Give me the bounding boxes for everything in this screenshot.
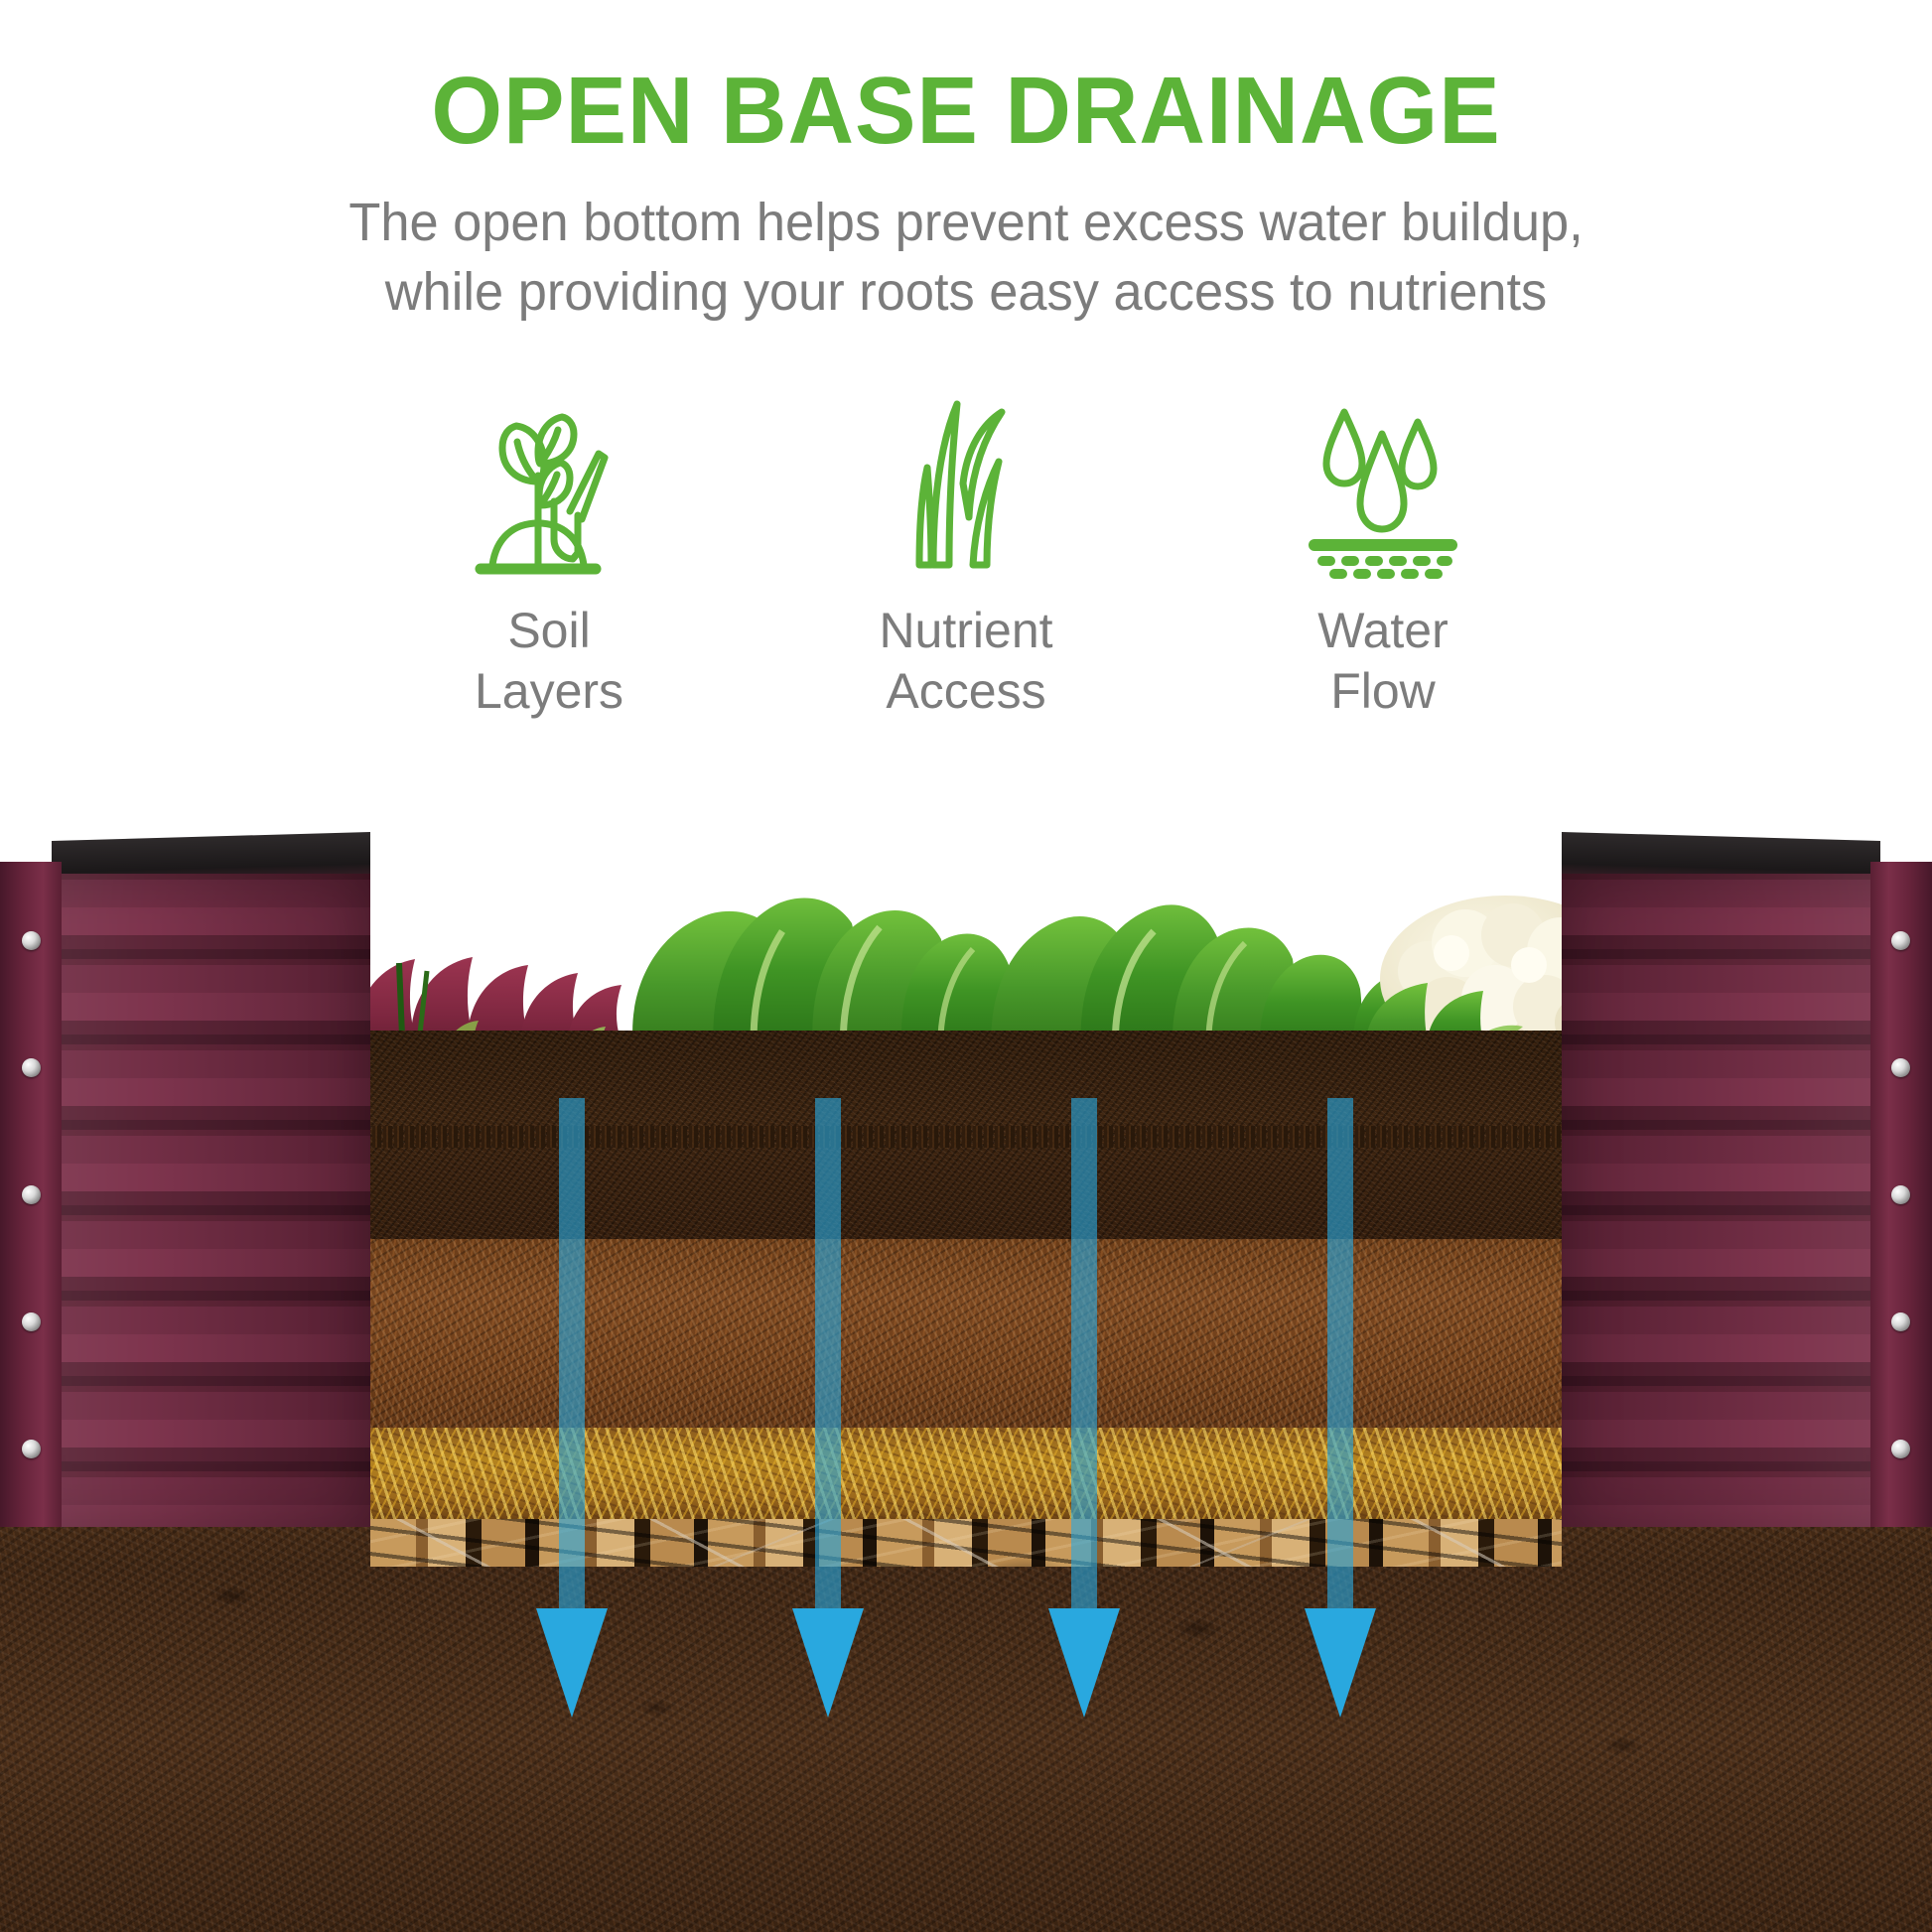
feature-label-line-1: Water (1174, 601, 1591, 661)
feature-label-soil-layers: Soil Layers (341, 601, 758, 722)
plant-shovel-icon (341, 390, 758, 579)
panel-screw (1891, 1440, 1910, 1458)
feature-water-flow: Water Flow (1174, 390, 1591, 722)
planter-panel-left (0, 832, 370, 1527)
soil-layer-mulch (370, 1239, 1562, 1428)
grass-blades-icon (758, 390, 1174, 579)
feature-label-line-1: Nutrient (758, 601, 1174, 661)
product-image (0, 832, 1932, 1932)
soil-layer-logs (370, 1519, 1562, 1567)
panel-screw (22, 1058, 41, 1077)
feature-label-nutrient-access: Nutrient Access (758, 601, 1174, 722)
panel-screw (1891, 1058, 1910, 1077)
panel-screw (22, 1185, 41, 1204)
feature-nutrient-access: Nutrient Access (758, 390, 1174, 722)
panel-screw (1891, 931, 1910, 950)
feature-label-line-2: Layers (341, 661, 758, 722)
water-droplets-permeable-soil-icon (1174, 390, 1591, 579)
feature-label-line-1: Soil (341, 601, 758, 661)
panel-screw (1891, 1312, 1910, 1331)
planter-panel-right (1562, 832, 1932, 1527)
feature-soil-layers: Soil Layers (341, 390, 758, 722)
page-subtitle: The open bottom helps prevent excess wat… (29, 188, 1903, 327)
soil-surface-texture (370, 1126, 1562, 1148)
soil-layer-straw (370, 1428, 1562, 1519)
panel-screw (1891, 1185, 1910, 1204)
subtitle-line-1: The open bottom helps prevent excess wat… (29, 188, 1903, 257)
panel-screw (22, 1440, 41, 1458)
subtitle-line-2: while providing your roots easy access t… (29, 257, 1903, 327)
feature-list: Soil Layers Nutrient Access (0, 390, 1932, 722)
soil-layer-topsoil (370, 1031, 1562, 1239)
panel-screw (22, 1312, 41, 1331)
feature-label-line-2: Flow (1174, 661, 1591, 722)
soil-cross-section (370, 931, 1562, 1567)
feature-label-water-flow: Water Flow (1174, 601, 1591, 722)
page-title: OPEN BASE DRAINAGE (39, 62, 1893, 162)
feature-label-line-2: Access (758, 661, 1174, 722)
header: OPEN BASE DRAINAGE The open bottom helps… (0, 0, 1932, 327)
panel-screw (22, 931, 41, 950)
twigs-overlay (370, 1519, 1562, 1567)
